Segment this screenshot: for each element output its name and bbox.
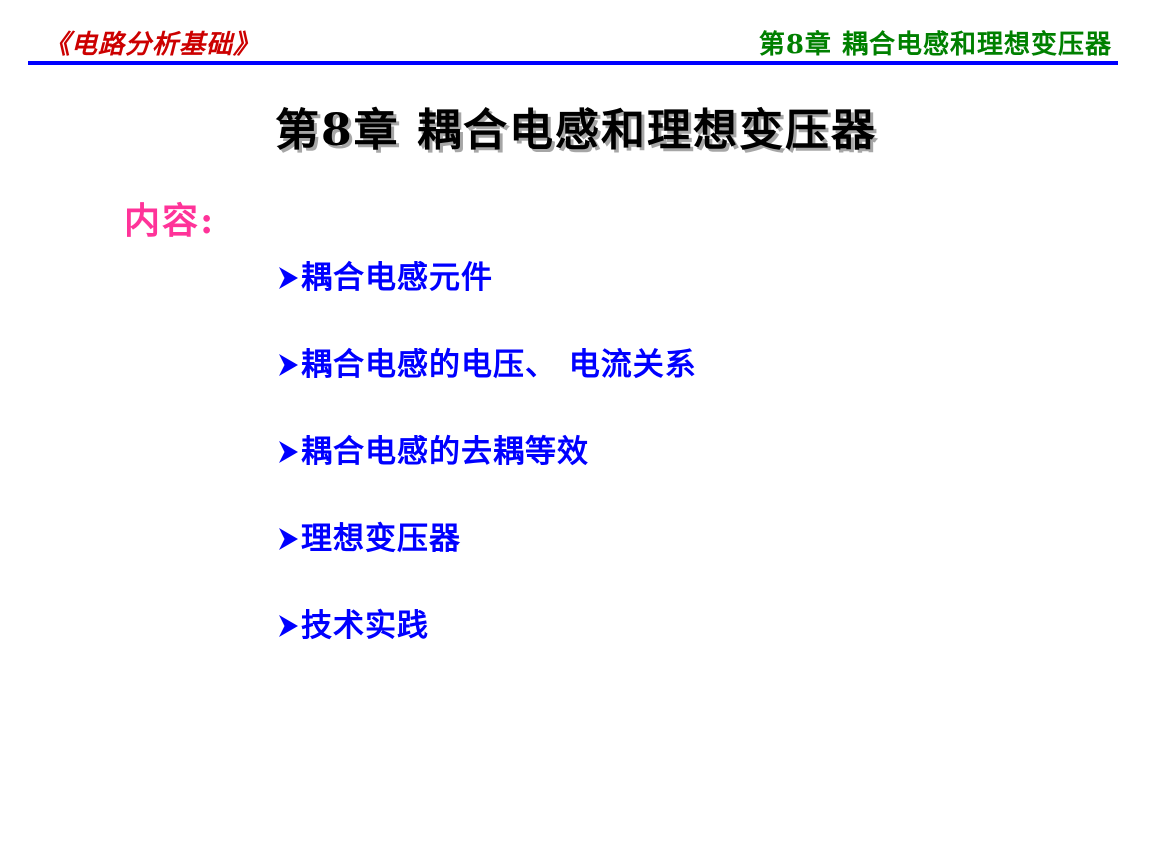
list-item-label: 理想变压器 — [301, 513, 461, 558]
arrowhead-bullet-icon — [278, 526, 300, 552]
header-divider-rule — [28, 61, 1118, 65]
content-section-label: 内容: — [124, 192, 215, 244]
arrowhead-bullet-icon — [278, 352, 300, 378]
list-item[interactable]: 耦合电感的电压、 电流关系 — [278, 339, 1038, 426]
list-item-label: 耦合电感的去耦等效 — [301, 426, 589, 471]
list-item[interactable]: 耦合电感元件 — [278, 252, 1038, 339]
slide: 《电路分析基础》 第8章 耦合电感和理想变压器 第8章 耦合电感和理想变压器 内… — [0, 0, 1152, 864]
content-bullet-list: 耦合电感元件 耦合电感的电压、 电流关系 耦合电感的去耦等效 — [278, 252, 1038, 687]
page-title: 第8章 耦合电感和理想变压器 — [0, 94, 1152, 158]
list-item[interactable]: 耦合电感的去耦等效 — [278, 426, 1038, 513]
list-item[interactable]: 技术实践 — [278, 600, 1038, 687]
arrowhead-bullet-icon — [278, 613, 300, 639]
list-item-label: 耦合电感元件 — [301, 252, 493, 297]
slide-header: 《电路分析基础》 第8章 耦合电感和理想变压器 — [0, 0, 1152, 68]
header-chapter-label: 第8章 耦合电感和理想变压器 — [759, 24, 1112, 61]
arrowhead-bullet-icon — [278, 439, 300, 465]
list-item-label: 技术实践 — [301, 600, 429, 645]
header-course-title: 《电路分析基础》 — [44, 24, 260, 61]
list-item[interactable]: 理想变压器 — [278, 513, 1038, 600]
arrowhead-bullet-icon — [278, 265, 300, 291]
list-item-label: 耦合电感的电压、 电流关系 — [301, 339, 697, 384]
